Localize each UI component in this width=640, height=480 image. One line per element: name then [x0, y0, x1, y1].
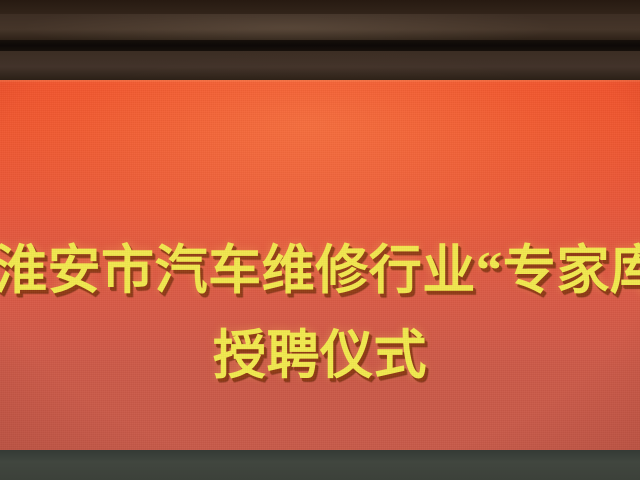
wall-light-sheen: [0, 14, 640, 40]
slide-title-line-2: 授聘仪式: [0, 325, 640, 387]
photograph-of-projected-slide: 淮安市汽车维修行业“专家库” 授聘仪式 2024年3月13日: [0, 0, 640, 480]
dark-seam-band: [0, 40, 640, 51]
bottom-wall-band: [0, 450, 640, 480]
projection-screen-slide: 淮安市汽车维修行业“专家库” 授聘仪式 2024年3月13日: [0, 80, 640, 450]
ceiling-band: [0, 0, 640, 14]
screen-top-highlight: [0, 80, 640, 83]
lower-wall-band: [0, 51, 640, 80]
slide-title-line-1: 淮安市汽车维修行业“专家库”: [0, 240, 640, 302]
